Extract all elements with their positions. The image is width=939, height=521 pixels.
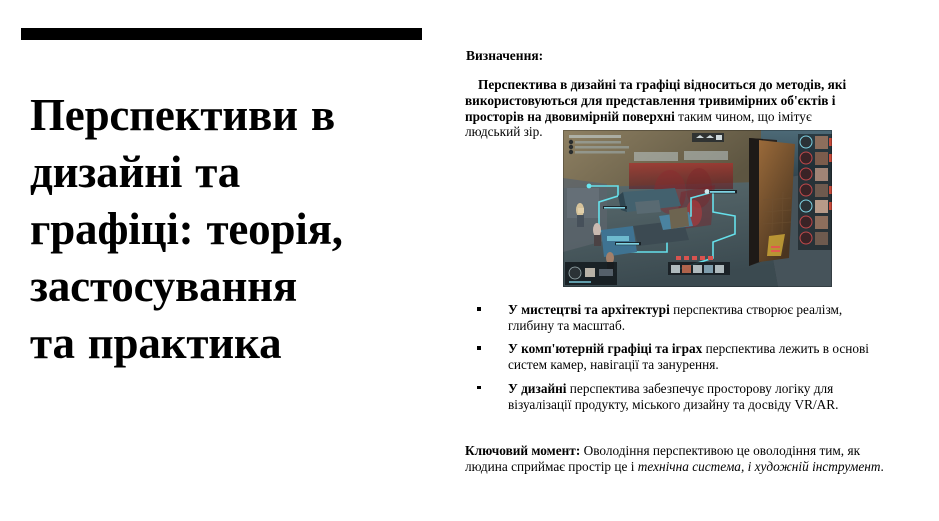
key-point-italic-text: технічна система, і художній інструмент (638, 459, 881, 474)
content-panel: Визначення: Перспектива в дизайні та гра… (462, 0, 939, 521)
key-point-label: Ключовий момент: (465, 443, 580, 458)
list-item: У дизайні перспектива забезпечує простор… (465, 381, 885, 412)
bullet-marker-icon (477, 346, 481, 350)
bullet-bold-lead: У дизайні (508, 381, 566, 396)
page-title-line-5: та практика (30, 315, 445, 372)
list-item: У мистецтві та архітектурі перспектива с… (465, 302, 885, 333)
page-title-line-4: застосування (30, 258, 445, 315)
bullet-bold-lead: У мистецтві та архітектурі (508, 302, 670, 317)
title-panel: Перспективи вдизайні таграфіці: теорія,з… (0, 0, 455, 521)
tactical-game-screenshot (563, 130, 832, 287)
page-title: Перспективи вдизайні таграфіці: теорія,з… (30, 87, 445, 372)
bullet-bold-lead: У комп'ютерній графіці та іграх (508, 341, 702, 356)
key-point-text-after: . (881, 459, 884, 474)
unit-soldier-1 (576, 203, 584, 227)
hud-portrait (565, 262, 617, 285)
page-title-line-1: Перспективи в (30, 87, 445, 144)
title-divider-bar (21, 28, 422, 40)
bullet-marker-icon (477, 386, 481, 390)
definition-heading: Визначення: (466, 48, 543, 64)
key-areas-bullet-list: У мистецтві та архітектурі перспектива с… (465, 302, 885, 420)
game-scene-graphic (563, 130, 832, 287)
bullet-marker-icon (477, 307, 481, 311)
page-title-line-2: дизайні та (30, 144, 445, 201)
list-item: У комп'ютерній графіці та іграх перспект… (465, 341, 885, 372)
unit-roster (798, 134, 832, 250)
hud-top-widget (692, 133, 724, 142)
key-point-paragraph: Ключовий момент: Оволодіння перспективою… (465, 443, 885, 474)
unit-soldier-2 (593, 223, 601, 246)
page-title-line-3: графіці: теорія, (30, 201, 445, 258)
